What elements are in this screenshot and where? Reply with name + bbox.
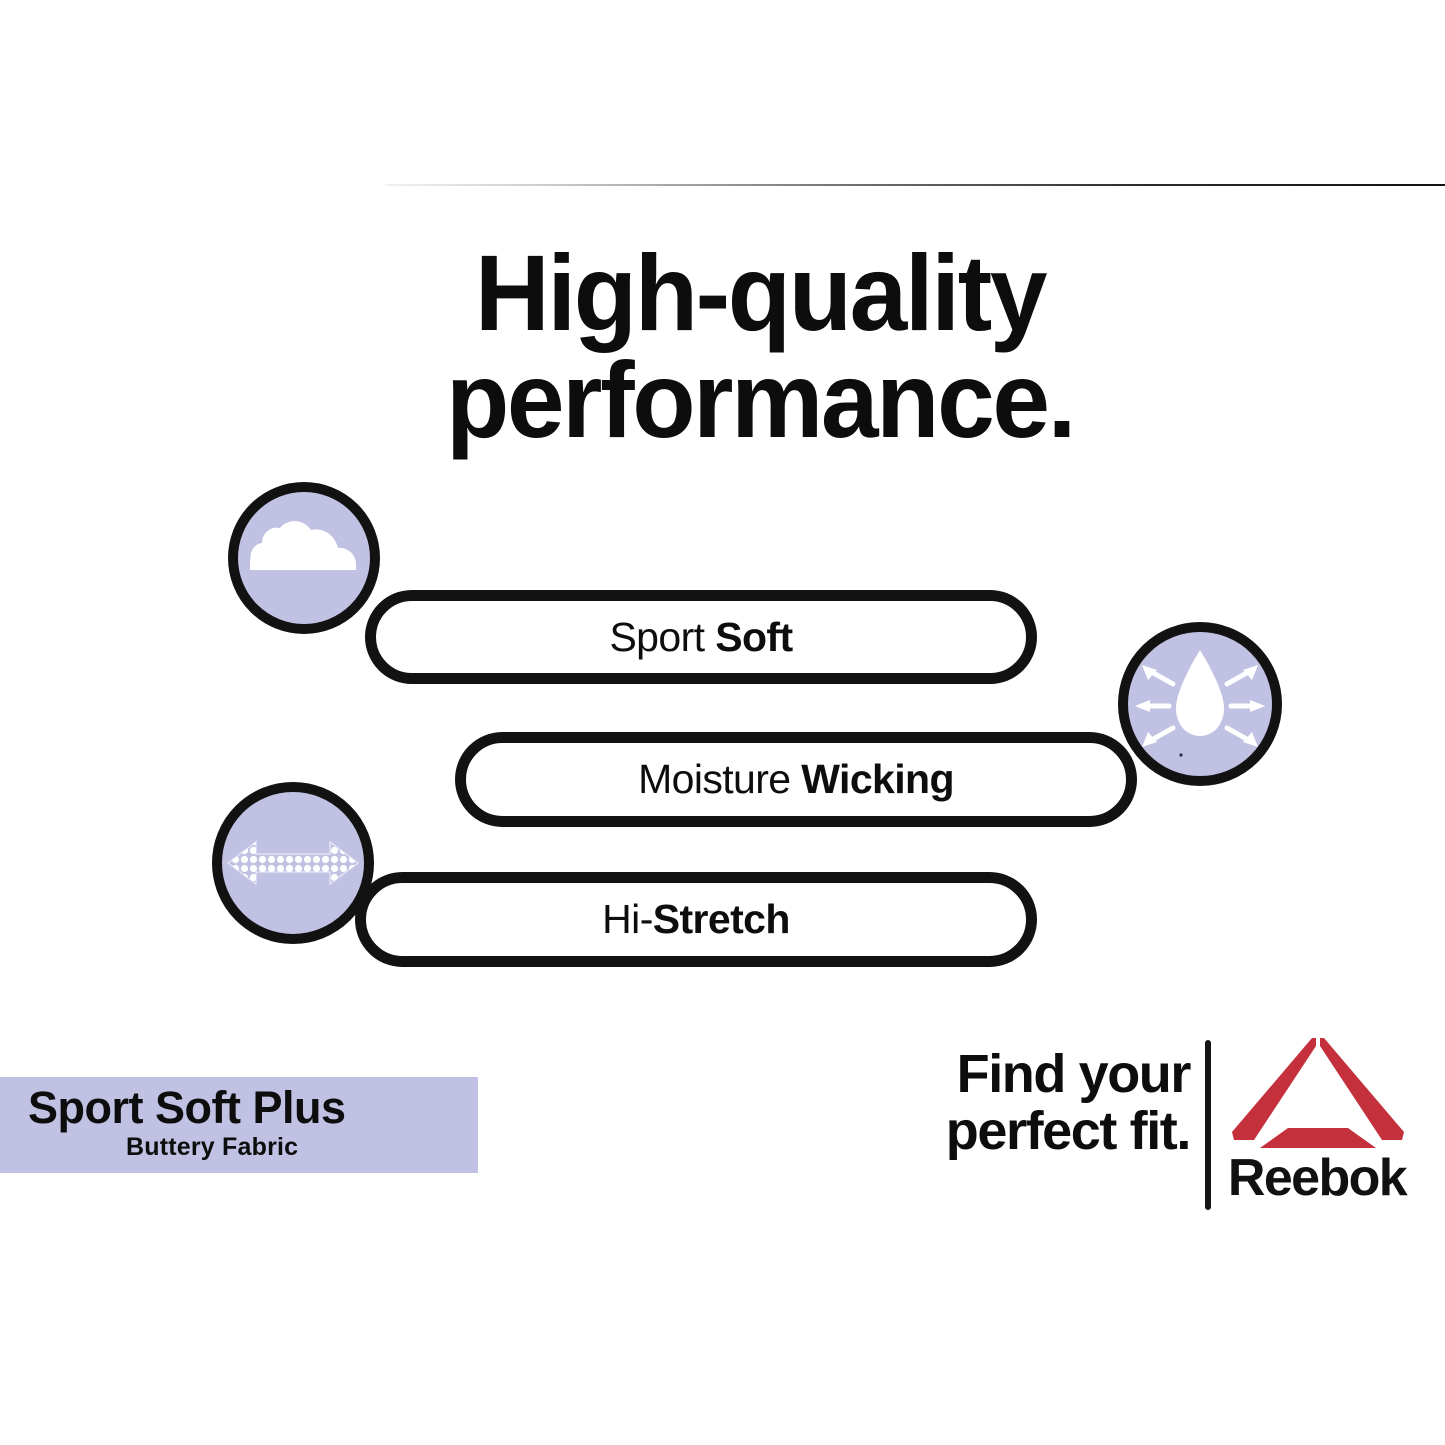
headline-line-1: High-quality [414, 240, 1105, 347]
product-banner: Sport Soft Plus Buttery Fabric [0, 1077, 478, 1173]
feature-label-3: Hi-Stretch [602, 896, 790, 943]
feature-label-2-prefix: Moisture [638, 756, 801, 802]
water-droplet-wicking-icon-badge [1118, 622, 1282, 786]
brand-lockup: Reebok [1222, 1036, 1412, 1214]
water-droplet-wicking-icon [1128, 632, 1272, 776]
feature-label-1-emphasis: Soft [715, 614, 792, 660]
cloud-icon [238, 492, 370, 624]
poster-canvas: High-quality performance. Sport Soft Moi… [0, 0, 1445, 1445]
banner-title: Sport Soft Plus [28, 1085, 478, 1131]
cta-line-2: perfect fit. [918, 1103, 1190, 1160]
feature-pill-hi-stretch[interactable]: Hi-Stretch [355, 872, 1037, 967]
feature-label-1-prefix: Sport [609, 614, 715, 660]
double-arrow-stretch-icon [222, 792, 364, 934]
double-arrow-stretch-icon-badge [212, 782, 374, 944]
top-divider-rule [385, 184, 1445, 186]
cta-text: Find your perfect fit. [918, 1046, 1190, 1160]
cta-line-1: Find your [918, 1046, 1190, 1103]
cloud-icon-badge [228, 482, 380, 634]
banner-subtitle: Buttery Fabric [28, 1133, 478, 1162]
reebok-delta-icon [1230, 1036, 1406, 1154]
lockup-divider [1205, 1040, 1211, 1210]
feature-pill-sport-soft[interactable]: Sport Soft [365, 590, 1037, 684]
feature-label-1: Sport Soft [609, 614, 792, 661]
feature-label-2: Moisture Wicking [638, 756, 954, 803]
feature-label-2-emphasis: Wicking [801, 756, 954, 802]
feature-label-3-prefix: Hi- [602, 896, 653, 942]
headline-line-2: performance. [414, 347, 1105, 454]
page-title: High-quality performance. [414, 240, 1105, 454]
feature-label-3-emphasis: Stretch [653, 896, 790, 942]
feature-pill-moisture-wicking[interactable]: Moisture Wicking [455, 732, 1137, 827]
brand-wordmark: Reebok [1222, 1148, 1412, 1208]
